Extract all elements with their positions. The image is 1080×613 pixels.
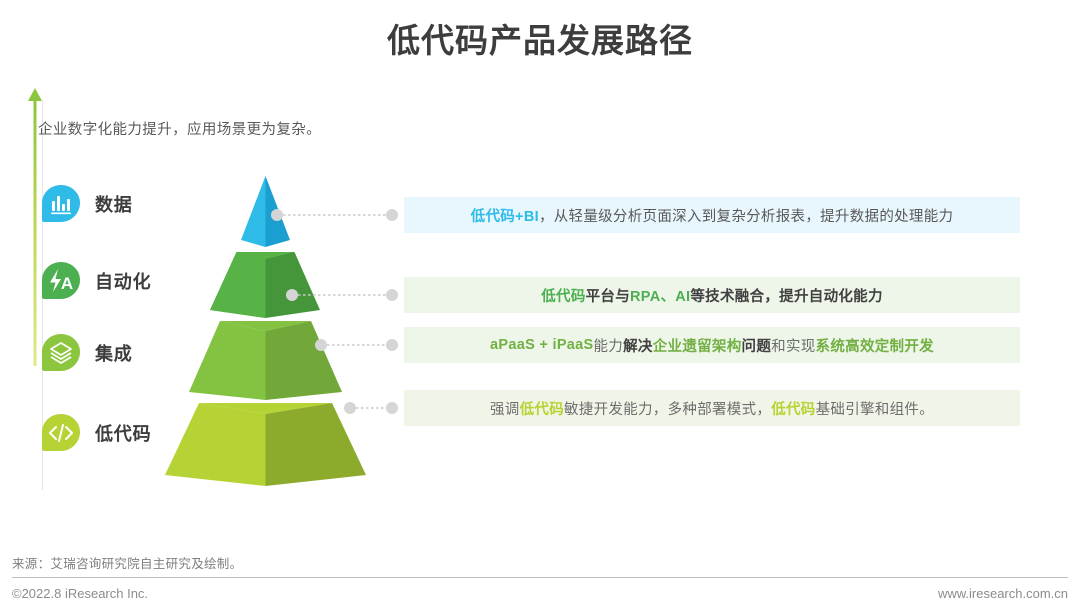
pyramid-level-lowcode (165, 403, 366, 486)
pyramid-level-data (241, 176, 290, 247)
callout-text-run: 平台与 (586, 285, 630, 306)
callout-text-run: 系统高效定制开发 (816, 335, 934, 356)
callout-text-run: 敏捷开发能力，多种部署模式， (564, 398, 771, 419)
callout-text-run: RPA、AI (630, 285, 690, 306)
legend-item-label: 自动化 (95, 268, 151, 294)
callout-text-run: 和实现 (771, 335, 815, 356)
website-url: www.iresearch.com.cn (938, 586, 1068, 601)
row-callout-lowcode[interactable]: 强调低代码敏捷开发能力，多种部署模式，低代码基础引擎和组件。 (404, 390, 1020, 426)
callout-text-run: 等技术融合，提升自动化能力 (690, 285, 882, 306)
source-note: 来源：艾瑞咨询研究院自主研究及绘制。 (12, 553, 242, 572)
callout-text-run: 强调 (490, 398, 520, 419)
copyright-text: ©2022.8 iResearch Inc. (12, 586, 148, 601)
callout-text-run: 问题 (742, 335, 772, 356)
callout-text-run: 低代码+BI (471, 205, 539, 226)
callout-text-run: ，从轻量级分析页面深入到复杂分析报表，提升数据的处理能力 (539, 205, 953, 226)
pyramid-level-automation (210, 252, 320, 318)
callout-text-run: 基础引擎和组件。 (816, 398, 934, 419)
layers-icon (40, 332, 82, 374)
legend-item-lowcode[interactable]: 低代码 (40, 412, 151, 454)
row-callout-integration[interactable]: aPaaS + iPaaS 能力解决企业遗留架构问题和实现系统高效定制开发 (404, 327, 1020, 363)
legend-item-data[interactable]: 数据 (40, 183, 133, 225)
axis-subtitle: 企业数字化能力提升，应用场景更为复杂。 (38, 118, 321, 139)
svg-text:A: A (61, 274, 73, 293)
bar-chart-icon (40, 183, 82, 225)
callout-text-run: aPaaS + iPaaS (490, 337, 593, 353)
callout-text-run: 能力 (594, 335, 624, 356)
code-tags-icon (40, 412, 82, 454)
pyramid-level-integration (189, 321, 342, 400)
row-callout-data[interactable]: 低代码+BI，从轻量级分析页面深入到复杂分析报表，提升数据的处理能力 (404, 197, 1020, 233)
legend-item-label: 数据 (95, 191, 133, 217)
footer-divider (12, 577, 1068, 578)
callout-text-run: 企业遗留架构 (653, 335, 742, 356)
callout-text-run: 低代码 (771, 398, 815, 419)
callout-text-run: 解决 (623, 335, 653, 356)
slide-canvas: 低代码产品发展路径 企业数字化能力提升，应用场景更为复杂。 (0, 0, 1080, 613)
callout-text-run: 低代码 (541, 285, 585, 306)
page-title: 低代码产品发展路径 (0, 14, 1080, 62)
legend-item-label: 低代码 (95, 420, 151, 446)
legend-item-integration[interactable]: 集成 (40, 332, 133, 374)
callout-text-run: 低代码 (520, 398, 564, 419)
legend-item-automation[interactable]: A 自动化 (40, 260, 151, 302)
bolt-a-icon: A (40, 260, 82, 302)
legend-item-label: 集成 (95, 340, 133, 366)
row-callout-automation[interactable]: 低代码平台与RPA、AI等技术融合，提升自动化能力 (404, 277, 1020, 313)
capability-pyramid-diagram (163, 168, 368, 493)
